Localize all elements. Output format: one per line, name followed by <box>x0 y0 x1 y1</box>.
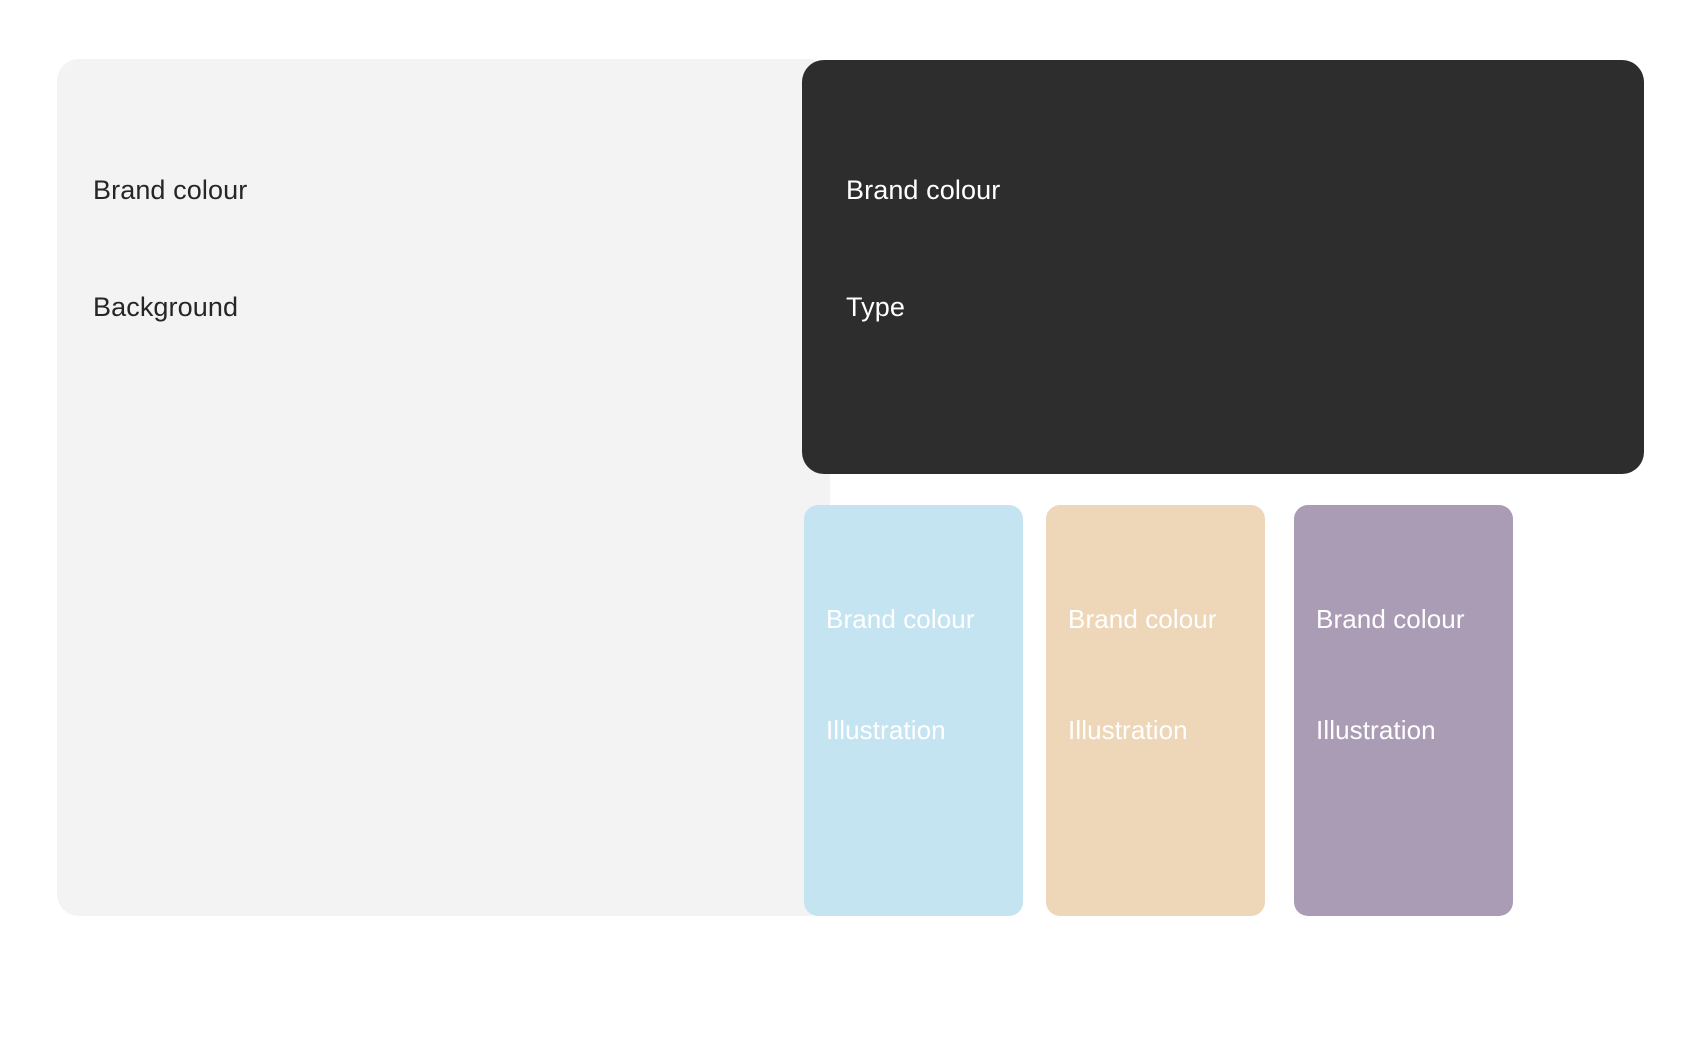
background-card-label-line1: Brand colour <box>93 171 247 210</box>
illustration-tan-label: Brand colour Illustration <box>1068 527 1217 823</box>
illustration-tan-label-line2: Illustration <box>1068 712 1217 749</box>
type-card-label-line1: Brand colour <box>846 171 1000 210</box>
illustration-blue-label: Brand colour Illustration <box>826 527 975 823</box>
brand-colour-board: Brand colour Background Brand colour Typ… <box>0 0 1700 1063</box>
illustration-purple-label-line2: Illustration <box>1316 712 1465 749</box>
type-card-label: Brand colour Type <box>846 93 1000 405</box>
illustration-purple-label: Brand colour Illustration <box>1316 527 1465 823</box>
brand-colour-background-card[interactable]: Brand colour Background <box>57 59 830 916</box>
brand-colour-illustration-card-blue[interactable]: Brand colour Illustration <box>804 505 1023 916</box>
illustration-blue-label-line1: Brand colour <box>826 601 975 638</box>
background-card-label-line2: Background <box>93 288 247 327</box>
brand-colour-type-card[interactable]: Brand colour Type <box>802 60 1644 474</box>
illustration-purple-label-line1: Brand colour <box>1316 601 1465 638</box>
brand-colour-illustration-card-purple[interactable]: Brand colour Illustration <box>1294 505 1513 916</box>
type-card-label-line2: Type <box>846 288 1000 327</box>
brand-colour-illustration-card-tan[interactable]: Brand colour Illustration <box>1046 505 1265 916</box>
background-card-label: Brand colour Background <box>93 93 247 405</box>
illustration-tan-label-line1: Brand colour <box>1068 601 1217 638</box>
illustration-blue-label-line2: Illustration <box>826 712 975 749</box>
